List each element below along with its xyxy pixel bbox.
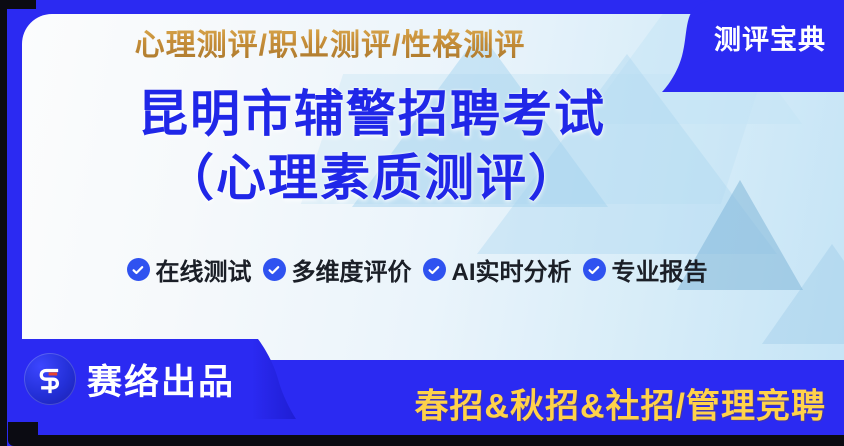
frame-edge-left [0,0,7,446]
check-circle-icon [127,258,150,281]
footer-brand-ribbon: 赛络出品 [0,331,330,423]
title-line-1: 昆明市辅警招聘考试 [22,82,722,146]
brand-label: 赛络出品 [87,354,235,405]
feature-label: 多维度评价 [292,252,412,287]
badge-label: 测评宝典 [714,18,826,57]
check-circle-icon [583,258,606,281]
frame-edge-top [0,0,36,9]
frame-edge-bottom [18,435,844,446]
check-circle-icon [423,258,446,281]
feature-item: 在线测试 [127,252,252,287]
feature-label: AI实时分析 [452,252,572,287]
feature-list: 在线测试 多维度评价 AI实时分析 专业报告 [22,252,812,287]
banner-title: 昆明市辅警招聘考试 （心理素质测评） [22,82,722,210]
brand-group: 赛络出品 [24,353,235,405]
feature-item: 多维度评价 [263,252,412,287]
feature-label: 专业报告 [612,252,708,287]
feature-label: 在线测试 [156,252,252,287]
footer-tagline: 春招&秋招&社招/管理竞聘 [414,379,826,428]
banner-subtitle: 心理测评/职业测评/性格测评 [0,20,660,64]
check-circle-icon [263,258,286,281]
title-line-2: （心理素质测评） [22,146,722,210]
feature-item: AI实时分析 [423,252,572,287]
promo-banner: 测评宝典 心理测评/职业测评/性格测评 昆明市辅警招聘考试 （心理素质测评） 在… [0,0,844,446]
feature-item: 专业报告 [583,252,708,287]
sailuo-s-logo-icon [24,353,76,405]
